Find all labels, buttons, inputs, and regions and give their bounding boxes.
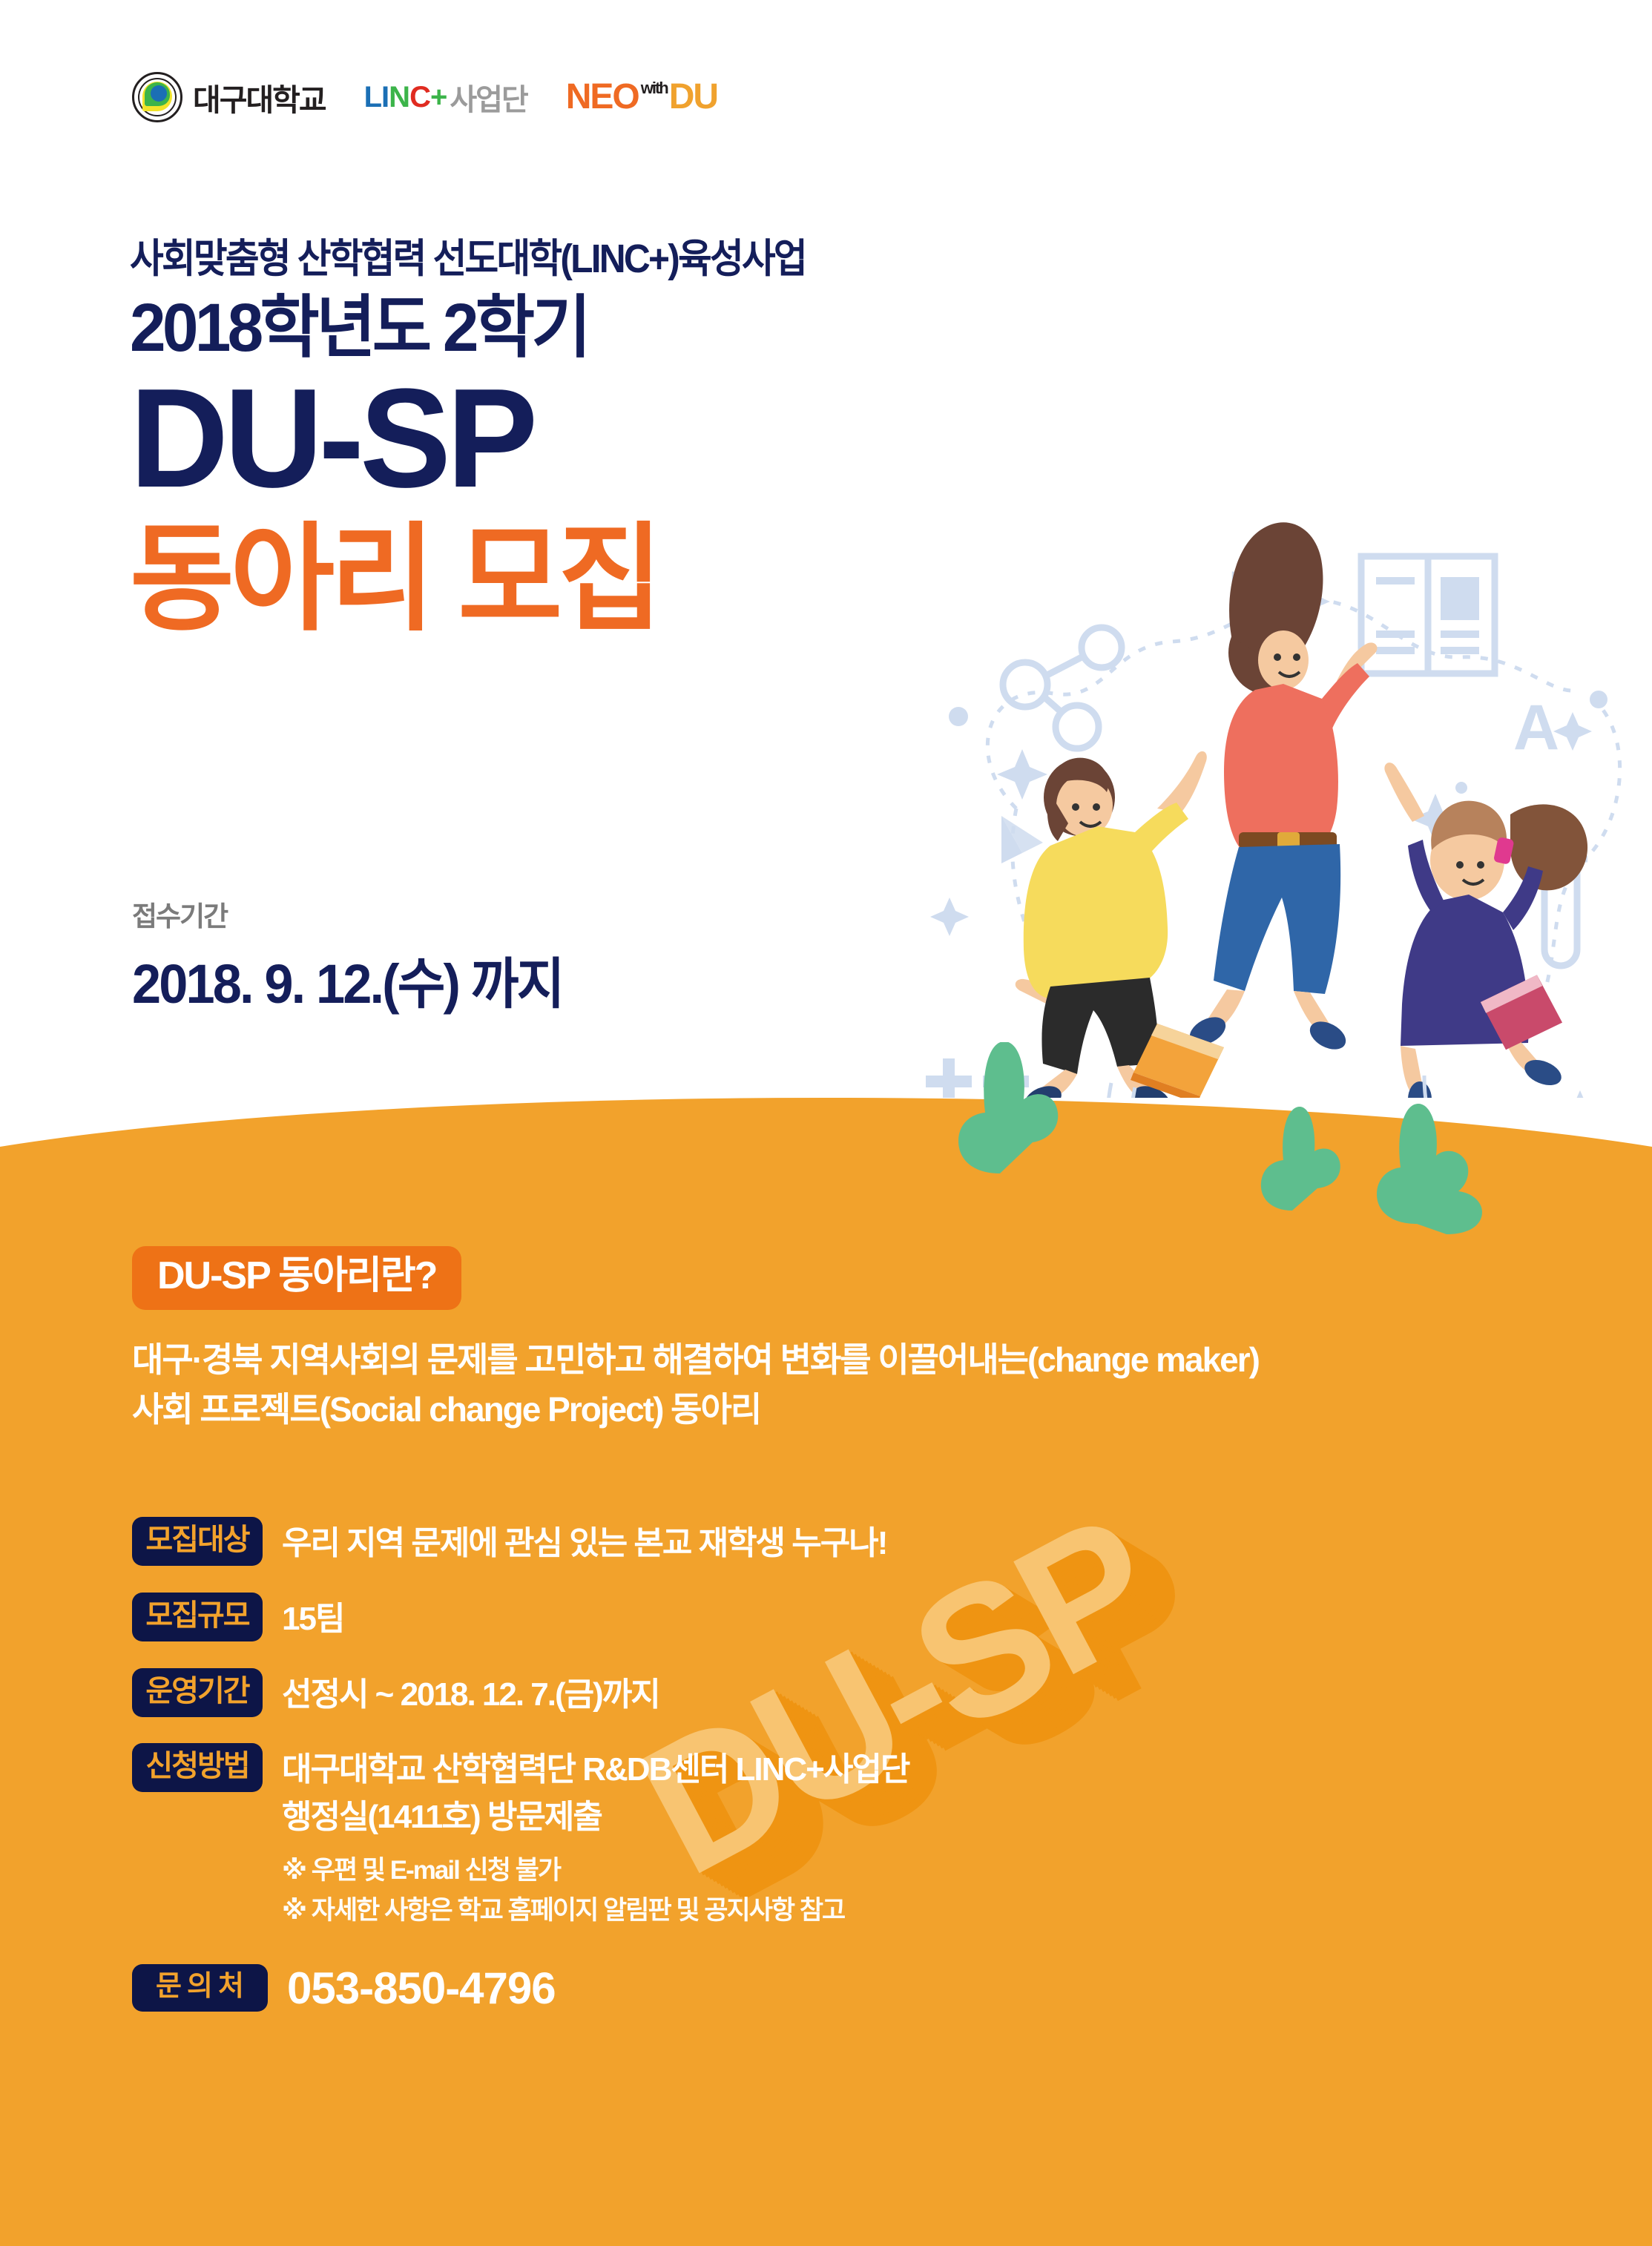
- neo-du-text: DU: [669, 79, 717, 115]
- linc-letter-n: N: [389, 81, 409, 113]
- headline-block: 사회맞춤형 산학협력 선도대학(LINC+)육성사업 2018학년도 2학기 D…: [130, 237, 1020, 643]
- value-operating-period: 선정시 ~ 2018. 12. 7.(금)까지: [282, 1671, 659, 1719]
- bush-decorations: [0, 1042, 1652, 1265]
- recruit-subtitle: 동아리 모집: [130, 516, 993, 643]
- linc-letter-i: I: [381, 81, 389, 113]
- linc-plus-sign: +: [430, 81, 447, 113]
- linc-plus-logo: LINC+ 사업단: [364, 76, 527, 119]
- program-kicker: 사회맞춤형 산학협력 선도대학(LINC+)육성사업: [130, 237, 949, 281]
- value-recruit-target: 우리 지역 문제에 관심 있는 본교 재학생 누구나!: [282, 1520, 886, 1567]
- apply-note-1: ※ 우편 및 E-mail 신청 불가: [282, 1851, 909, 1891]
- detail-row-apply-method: 신청방법 대구대학교 산학협력단 R&DB센터 LINC+사업단 행정실(141…: [132, 1743, 1579, 1931]
- period-label: 접수기간: [132, 894, 585, 934]
- period-date: 2018. 9. 12.(수) 까지: [132, 940, 562, 1019]
- letter-a-icon: A: [1513, 692, 1559, 763]
- value-recruit-size: 15팀: [282, 1595, 343, 1643]
- tag-operating-period: 운영기간: [132, 1668, 263, 1717]
- linc-suffix: 사업단: [450, 76, 527, 119]
- neo-with-du-logo: NEO with DU: [566, 79, 717, 115]
- tag-recruit-size: 모집규모: [132, 1593, 263, 1641]
- university-name: 대구대학교: [193, 75, 326, 119]
- neo-with-text: with: [641, 79, 668, 97]
- logo-bar: 대구대학교 LINC+ 사업단 NEO with DU: [132, 70, 717, 124]
- molecule-icon: [1003, 628, 1122, 748]
- value-apply-method-line2: 행정실(1411호) 방문제출: [282, 1794, 909, 1841]
- tag-apply-method: 신청방법: [132, 1743, 263, 1792]
- academic-year: 2018학년도 2학기: [130, 290, 975, 366]
- application-period: 접수기간 2018. 9. 12.(수) 까지: [132, 894, 585, 1019]
- linc-letter-l: L: [364, 81, 381, 113]
- section-description: 대구·경북 지역사회의 문제를 고민하고 해결하여 변화를 이끌어내는(chan…: [132, 1335, 1541, 1434]
- poster-root: 대구대학교 LINC+ 사업단 NEO with DU 사회맞춤형 산학협력 선…: [0, 0, 1652, 2246]
- tag-recruit-target: 모집대상: [132, 1517, 263, 1566]
- apply-note-2: ※ 자세한 사항은 학교 홈페이지 알림판 및 공지사항 참고: [282, 1891, 909, 1931]
- student-coral: [1185, 522, 1378, 1055]
- detail-row-target: 모집대상 우리 지역 문제에 관심 있는 본교 재학생 누구나!: [132, 1517, 1579, 1567]
- description-line-2: 사회 프로젝트(Social change Project) 동아리: [132, 1385, 1541, 1435]
- detail-row-size: 모집규모 15팀: [132, 1593, 1579, 1643]
- detail-row-contact: 문의처 053-850-4796: [132, 1956, 1579, 2021]
- university-emblem-icon: [132, 72, 182, 122]
- description-line-1: 대구·경북 지역사회의 문제를 고민하고 해결하여 변화를 이끌어내는(chan…: [132, 1335, 1541, 1385]
- detail-rows: 모집대상 우리 지역 문제에 관심 있는 본교 재학생 누구나! 모집규모 15…: [132, 1517, 1579, 2046]
- linc-letter-c: C: [409, 81, 430, 113]
- tag-contact: 문의처: [132, 1964, 268, 2012]
- detail-row-duration: 운영기간 선정시 ~ 2018. 12. 7.(금)까지: [132, 1668, 1579, 1719]
- contact-phone: 053-850-4796: [287, 1956, 556, 2021]
- daegu-university-logo: 대구대학교: [132, 72, 326, 122]
- students-illustration: B A: [912, 512, 1652, 1098]
- value-apply-method-line1: 대구대학교 산학협력단 R&DB센터 LINC+사업단: [282, 1746, 909, 1794]
- neo-text: NEO: [566, 79, 639, 115]
- linc-wordmark: LINC+: [364, 81, 447, 114]
- page-title: DU-SP: [130, 368, 993, 509]
- section-badge: DU-SP 동아리란?: [132, 1246, 461, 1310]
